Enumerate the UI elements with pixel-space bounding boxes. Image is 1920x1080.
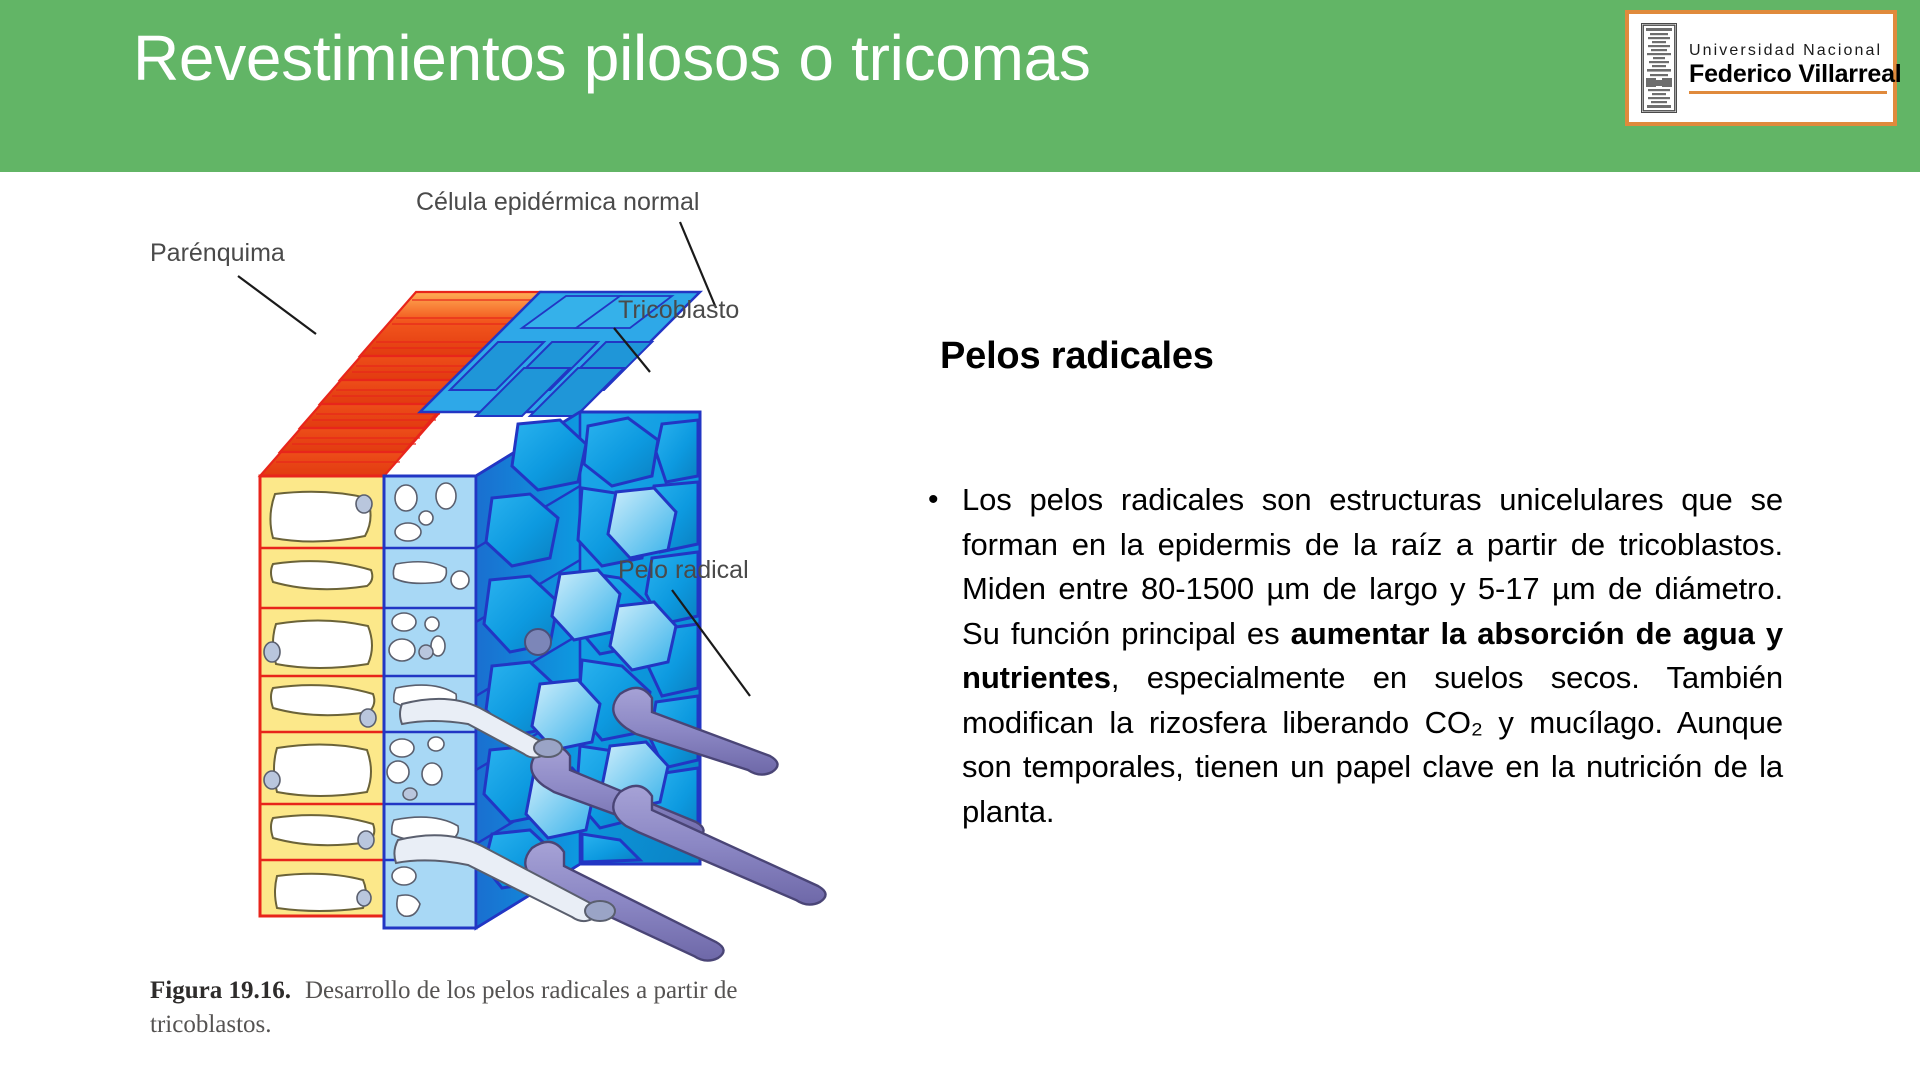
figure-caption: Figura 19.16.Desarrollo de los pelos rad…	[150, 974, 790, 1042]
content-heading: Pelos radicales	[940, 335, 1214, 378]
svg-text:Pelo radical: Pelo radical	[618, 556, 749, 584]
university-logo: Universidad Nacional Federico Villarreal	[1625, 10, 1897, 126]
bullet-icon: •	[928, 478, 962, 522]
logo-text-block: Universidad Nacional Federico Villarreal	[1689, 42, 1912, 94]
logo-line-universidad-nacional: Universidad Nacional	[1689, 42, 1902, 60]
svg-text:Tricoblasto: Tricoblasto	[618, 296, 739, 324]
figure-root-hair-development: Parénquima Célula epidérmica normal Tric…	[120, 176, 840, 1056]
svg-text:Parénquima: Parénquima	[150, 239, 285, 267]
list-item: • Los pelos radicales son estructuras un…	[928, 478, 1783, 834]
page-title: Revestimientos pilosos o tricomas	[133, 22, 1091, 96]
epidermis-block	[476, 412, 700, 928]
logo-line-federico-villarreal: Federico Villarreal	[1689, 60, 1902, 88]
slide-header-band: Revestimientos pilosos o tricomas	[0, 0, 1920, 172]
parenchyma-slab	[260, 476, 384, 916]
figure-label-parenquima: Parénquima	[150, 239, 316, 334]
bullet-paragraph: Los pelos radicales son estructuras unic…	[962, 478, 1783, 834]
figure-illustration: Parénquima Célula epidérmica normal Tric…	[120, 176, 840, 966]
figure-label-celula-epidermica-normal: Célula epidérmica normal	[416, 188, 716, 308]
logo-underline-rule	[1689, 91, 1887, 94]
university-emblem-icon	[1641, 23, 1677, 113]
epidermis-nuclei	[525, 629, 551, 655]
svg-text:Célula epidérmica normal: Célula epidérmica normal	[416, 188, 699, 216]
figure-number: Figura 19.16.	[150, 977, 291, 1004]
